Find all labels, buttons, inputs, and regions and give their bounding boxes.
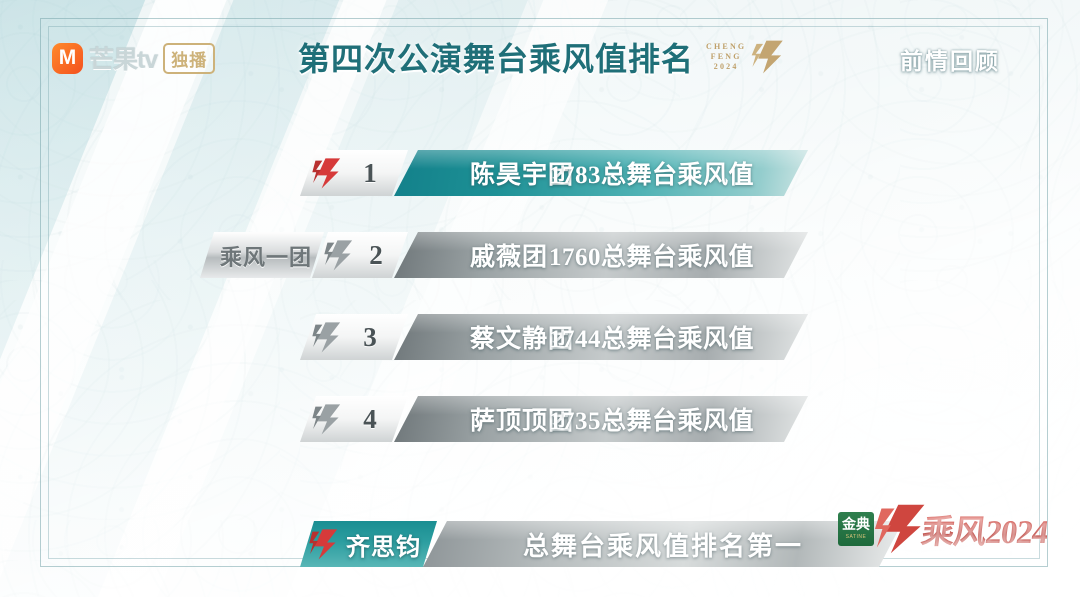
- rank-number: 1: [344, 158, 408, 189]
- rank-bar: 戚薇团 1760总舞台乘风值: [394, 232, 808, 278]
- team-name: 戚薇团: [470, 237, 548, 273]
- show-mark-line2: FENG: [711, 52, 742, 62]
- caption-bar: 总舞台乘风值排名第一: [423, 521, 903, 567]
- team-group-label: 乘风一团: [220, 240, 312, 272]
- team-group-badge: 乘风一团: [200, 232, 324, 278]
- speaker-chip: 齐思钧: [300, 521, 437, 567]
- lightning-bolt-icon-silver: [310, 402, 344, 436]
- speaker-name: 齐思钧: [346, 527, 421, 562]
- sponsor-badge: 金典 SATINE: [838, 512, 874, 546]
- exclusive-badge: 独播: [163, 43, 215, 74]
- rank-number: 4: [344, 404, 408, 435]
- sponsor-name-en: SATINE: [846, 535, 867, 540]
- team-score: 1783总舞台乘风值: [549, 155, 754, 191]
- rank-bar: 蔡文静团 1744总舞台乘风值: [394, 314, 808, 360]
- show-wordmark: 乘风2024: [919, 505, 1051, 553]
- mgtv-mark-icon: [52, 43, 83, 74]
- team-score: 1744总舞台乘风值: [549, 319, 754, 355]
- rank-bar: 陈昊宇团 1783总舞台乘风值: [394, 150, 808, 196]
- lightning-bolt-icon-red: [310, 156, 344, 190]
- lightning-bolt-icon: [751, 39, 785, 75]
- show-logo: 金典 SATINE 乘风2024: [838, 501, 1048, 557]
- rank-chip: 4: [300, 396, 408, 442]
- caption-text: 总舞台乘风值排名第一: [523, 526, 803, 563]
- mgtv-logo: 芒果tv 独播: [52, 40, 215, 76]
- show-mark-line1: CHENG: [706, 42, 746, 52]
- rank-chip: 2: [312, 232, 408, 278]
- rank-chip: 3: [300, 314, 408, 360]
- show-mark-line3: 2024: [714, 62, 739, 72]
- lightning-bolt-icon-red: [308, 527, 340, 561]
- table-row[interactable]: 3 蔡文静团 1744总舞台乘风值: [0, 314, 1080, 396]
- recap-label: 前情回顾: [900, 42, 1000, 76]
- table-row[interactable]: 乘风一团 2 戚薇团 1760总舞台乘风值: [0, 232, 1080, 314]
- show-mark: CHENG FENG 2024: [706, 39, 785, 75]
- table-row[interactable]: 4 萨顶顶团 1735总舞台乘风值: [0, 396, 1080, 478]
- show-mark-text: CHENG FENG 2024: [706, 42, 746, 72]
- lightning-bolt-icon-silver: [310, 320, 344, 354]
- rank-number: 2: [356, 240, 408, 271]
- team-score: 1735总舞台乘风值: [549, 401, 754, 437]
- ranking-list: 1 陈昊宇团 1783总舞台乘风值 乘风一团 2: [0, 150, 1080, 478]
- rank-bar: 萨顶顶团 1735总舞台乘风值: [394, 396, 808, 442]
- rank-number: 3: [344, 322, 408, 353]
- team-score: 1760总舞台乘风值: [549, 237, 754, 273]
- page-title: 第四次公演舞台乘风值排名: [298, 34, 694, 80]
- mgtv-wordmark: 芒果tv: [89, 40, 157, 76]
- lightning-bolt-icon-silver: [322, 238, 356, 272]
- table-row[interactable]: 1 陈昊宇团 1783总舞台乘风值: [0, 150, 1080, 232]
- sponsor-name-cn: 金典: [842, 519, 870, 533]
- headline: 第四次公演舞台乘风值排名 CHENG FENG 2024: [298, 34, 785, 80]
- lower-third-banner: 齐思钧 总舞台乘风值排名第一: [300, 521, 903, 567]
- broadcast-screen: 芒果tv 独播 第四次公演舞台乘风值排名 CHENG FENG 2024 前情回…: [0, 0, 1080, 597]
- rank-chip: 1: [300, 150, 408, 196]
